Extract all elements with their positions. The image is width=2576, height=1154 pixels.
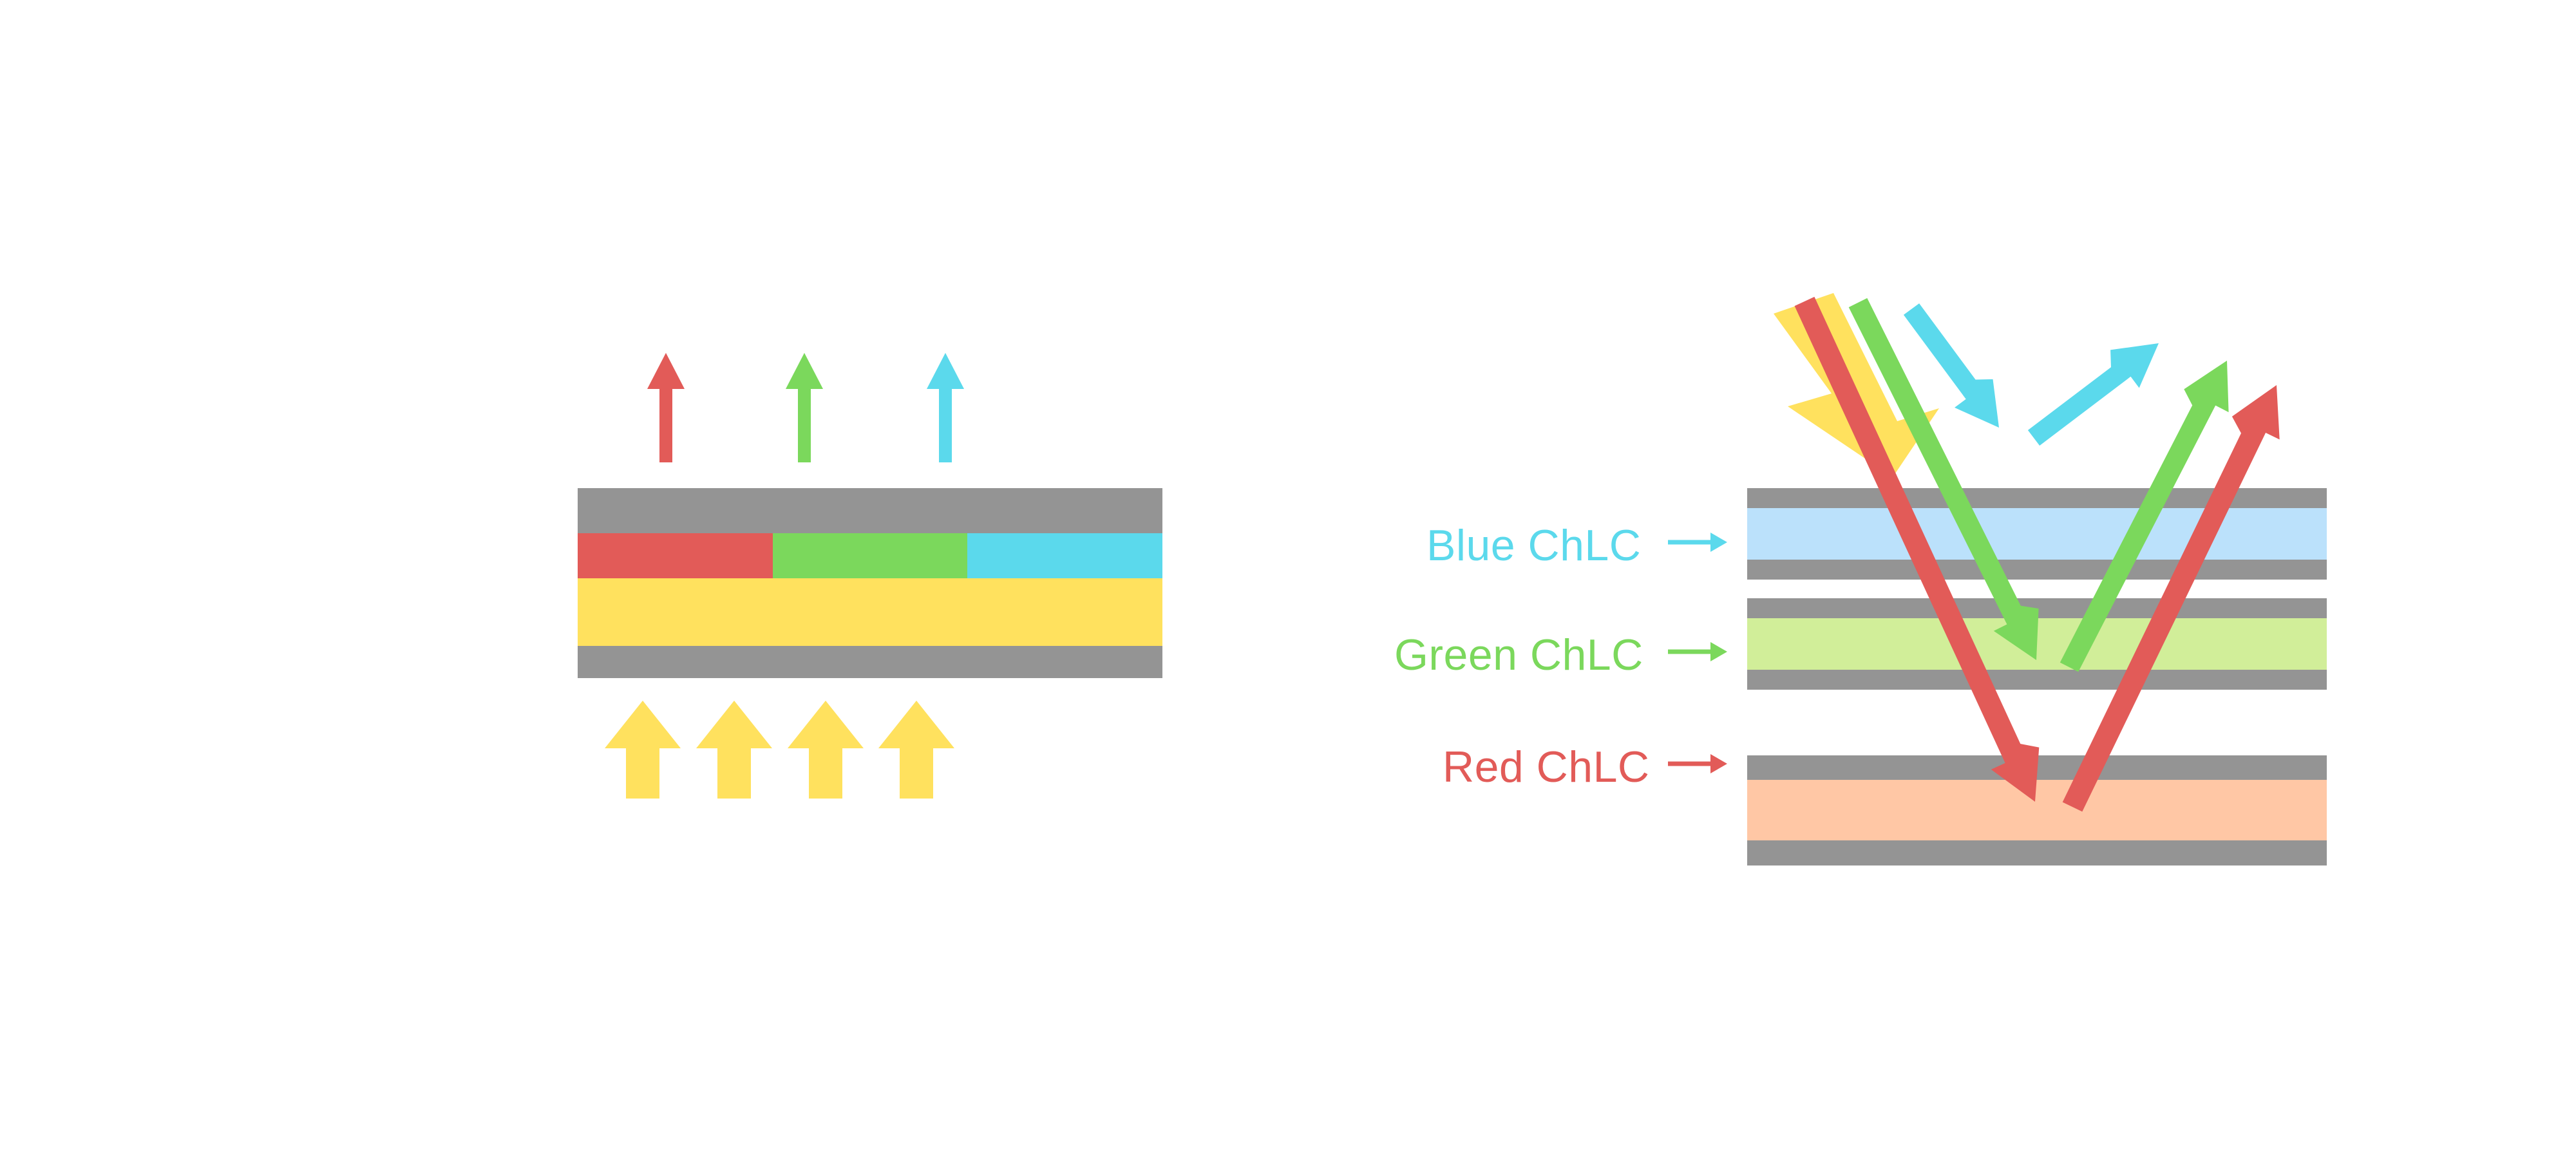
backlight-arrow-1 — [605, 701, 681, 799]
backlight-arrow-4 — [878, 701, 954, 799]
green-chlc-cell-label: Green ChLC — [1394, 630, 1643, 679]
green-chlc-cell-bottom-electrode — [1747, 670, 2327, 690]
backlight-arrow-2 — [696, 701, 772, 799]
figure-root: Blue ChLCGreen ChLCRed ChLC — [0, 0, 2576, 1154]
pointer-head — [1710, 533, 1727, 552]
blue-chlc-cell-bottom-electrode — [1747, 560, 2327, 580]
blue-chlc-cell-top-electrode — [1747, 488, 2327, 508]
backlight-arrow-group — [605, 701, 954, 799]
reflective-chlc-stack-panel: Blue ChLCGreen ChLCRed ChLC — [1394, 293, 2327, 865]
display-stack-left — [578, 488, 1162, 678]
yellow-backlight-layer — [578, 578, 1162, 646]
green-filter-segment — [773, 533, 967, 578]
cyan-filter-segment — [967, 533, 1162, 578]
pointer-head — [1710, 642, 1727, 661]
cyan-emitted-light-arrow — [927, 353, 964, 462]
backlight-arrow-3 — [788, 701, 864, 799]
red-emitted-light-arrow — [647, 353, 685, 462]
diagram-canvas: Blue ChLCGreen ChLCRed ChLC — [0, 0, 2576, 1154]
red-chlc-cell-label-pointer-icon — [1668, 754, 1727, 773]
red-chlc-cell-lc-layer — [1747, 780, 2327, 840]
transmissive-backlit-stack-panel — [578, 353, 1162, 799]
chlc-label-group: Blue ChLCGreen ChLCRed ChLC — [1394, 521, 1727, 791]
red-chlc-cell-bottom-electrode — [1747, 840, 2327, 865]
green-emitted-light-arrow — [786, 353, 823, 462]
red-chlc-cell-label: Red ChLC — [1443, 743, 1650, 791]
green-chlc-cell-label-pointer-icon — [1668, 642, 1727, 661]
blue-reflected-ray — [2028, 343, 2159, 446]
pointer-head — [1710, 754, 1727, 773]
emitted-light-arrow-group — [647, 353, 964, 462]
top-gray-electrode-layer — [578, 488, 1162, 533]
blue-chlc-cell-label-pointer-icon — [1668, 533, 1727, 552]
blue-chlc-cell-lc-layer — [1747, 508, 2327, 560]
bottom-gray-electrode-layer — [578, 646, 1162, 678]
blue-chlc-cell-label: Blue ChLC — [1426, 521, 1641, 570]
red-filter-segment — [578, 533, 773, 578]
chlc-stack-right — [1747, 488, 2327, 865]
